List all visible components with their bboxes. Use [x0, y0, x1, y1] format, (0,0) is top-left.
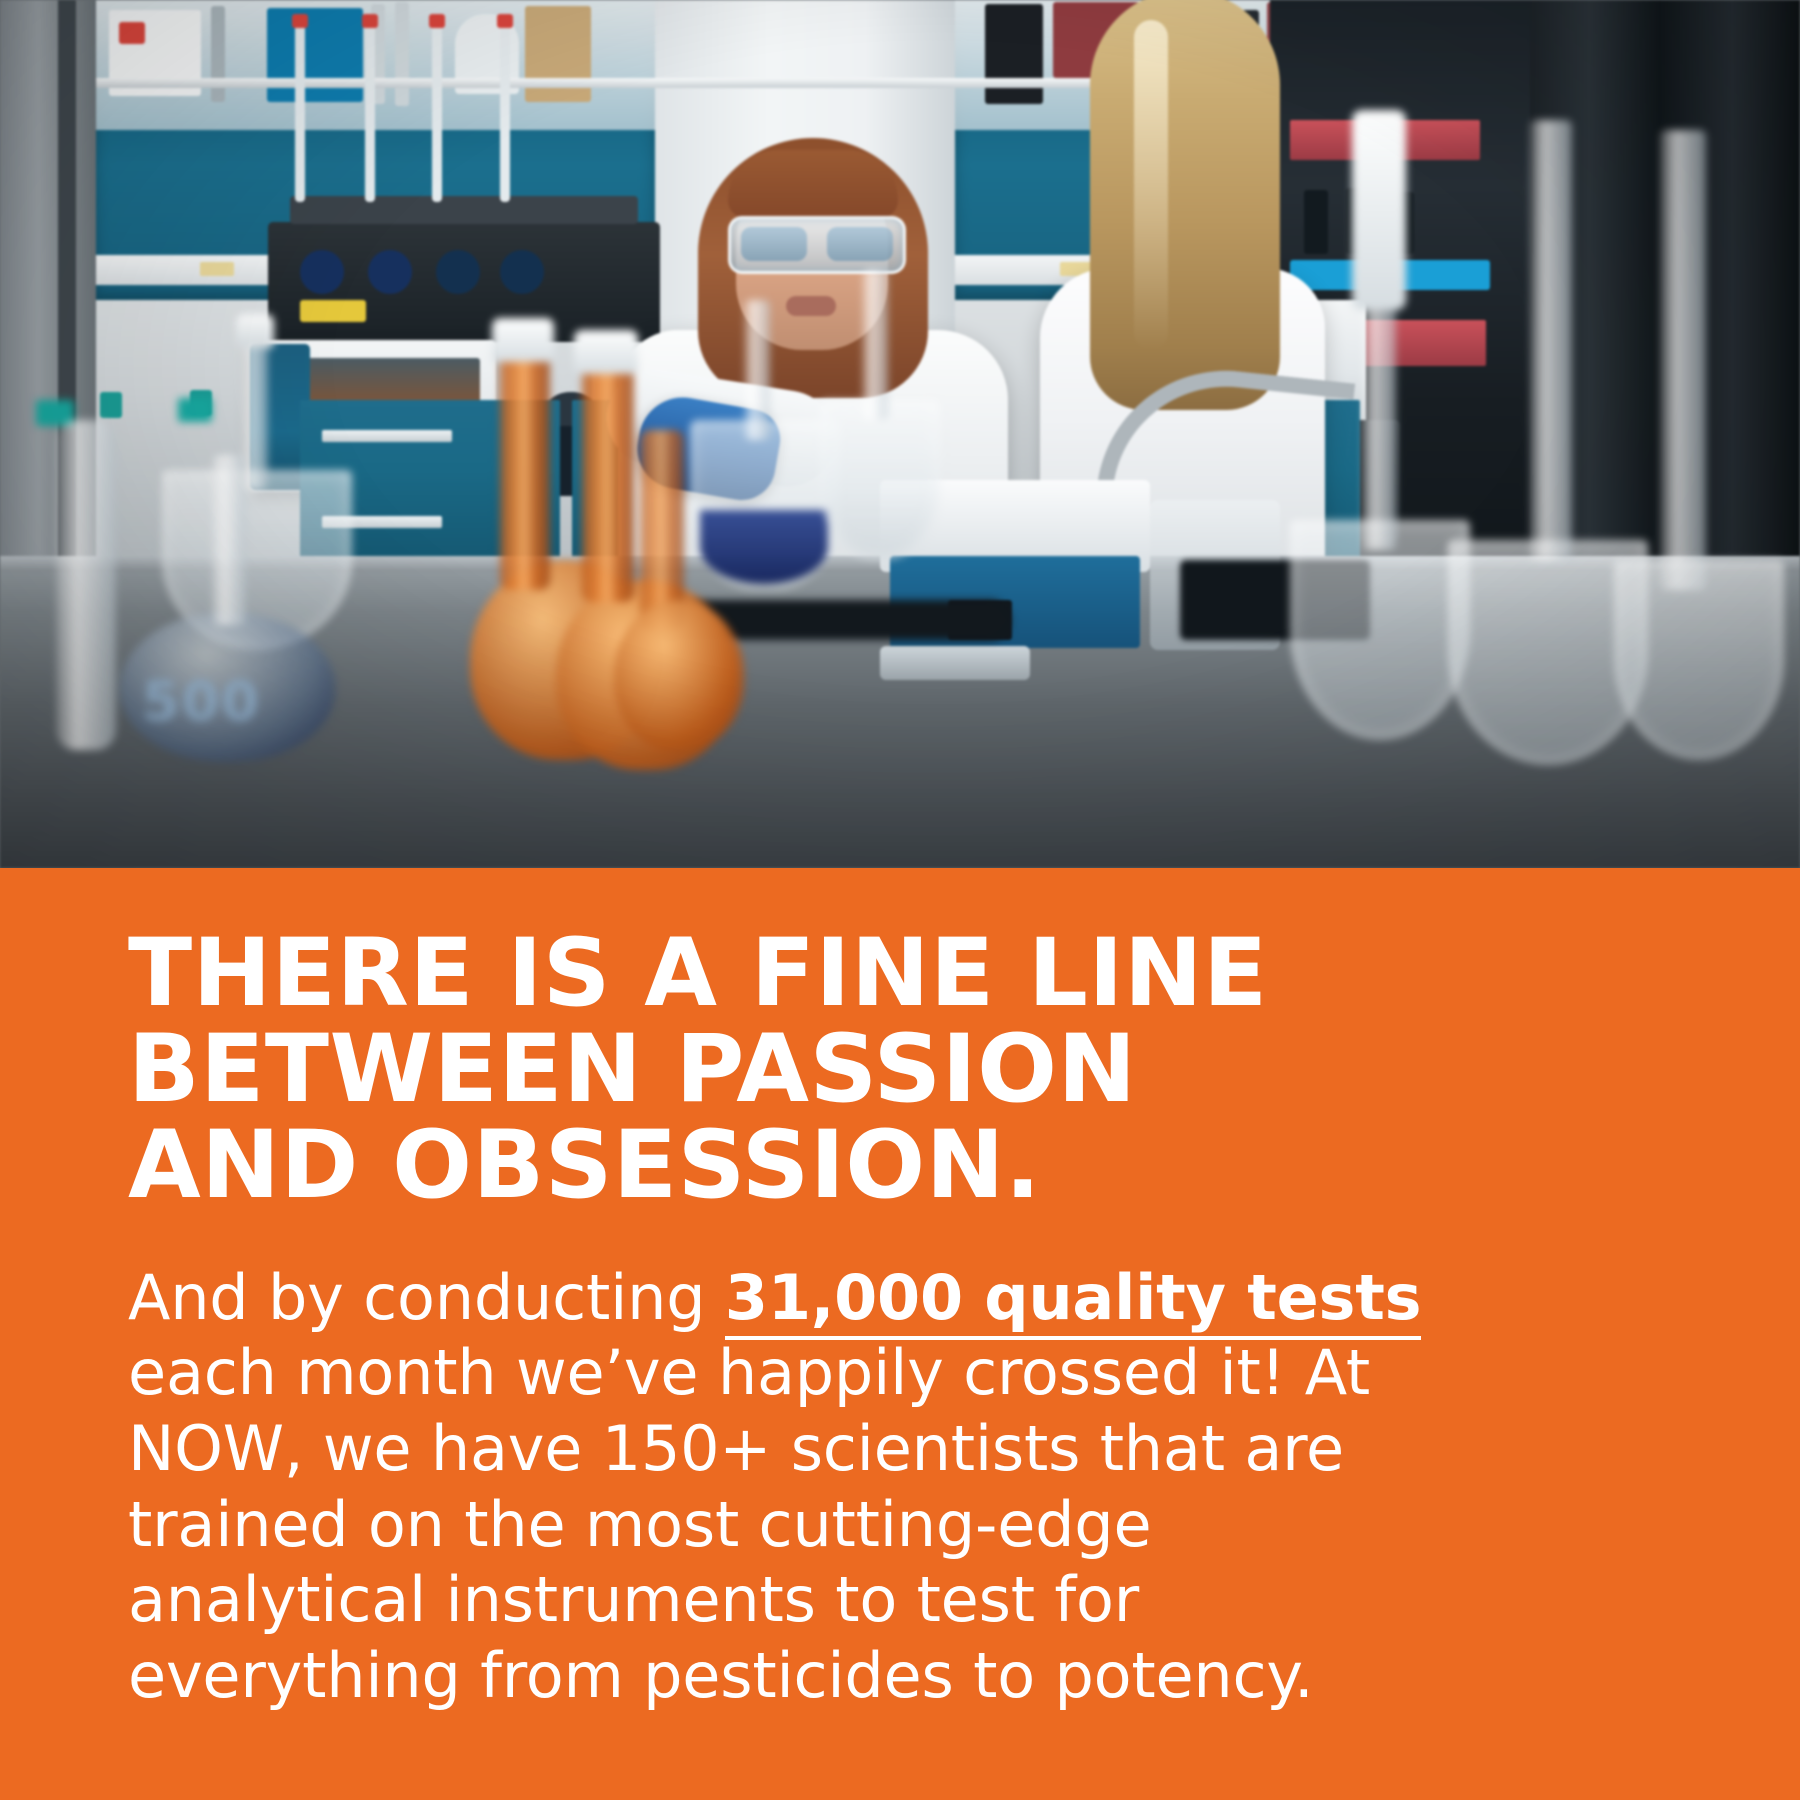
- flask-500-label: 500: [142, 670, 282, 724]
- burette-cap-1: [292, 14, 308, 28]
- burette-cap-2: [362, 14, 378, 28]
- rack-cap-teal-2: [100, 392, 122, 418]
- erlenmeyer-center-2-neck: [862, 270, 888, 420]
- vial-3: [436, 250, 480, 294]
- burette-cap-4: [497, 14, 513, 28]
- body-copy-part-2: each month we’ve happily crossed it! At …: [128, 1336, 1370, 1712]
- vial-1: [300, 250, 344, 294]
- scientist-goggles-fringe: [728, 150, 898, 218]
- scientist-goggles-mouth: [786, 296, 836, 316]
- quality-tests-emphasis: 31,000 quality tests: [725, 1261, 1421, 1340]
- headline: THERE IS A FINE LINE BETWEEN PASSION AND…: [128, 926, 1418, 1214]
- body-copy-part-1: And by conducting: [128, 1261, 725, 1334]
- headline-line-3: AND OBSESSION.: [128, 1118, 1418, 1214]
- amber-flask-bulb-3: [614, 600, 744, 750]
- erlenmeyer-center-2: [820, 400, 940, 560]
- shelf-label-red: [119, 22, 145, 44]
- headline-line-1: THERE IS A FINE LINE: [128, 926, 1418, 1022]
- glass-column-right-1: [1352, 110, 1406, 310]
- erlenmeyer-center-neck: [744, 300, 770, 440]
- shelf-divider-3: [395, 2, 409, 106]
- cabinet-tab-1: [200, 262, 234, 276]
- amber-flask-stopper-1: [492, 318, 554, 362]
- glass-flask-right-1: [1290, 520, 1470, 740]
- flask-500-neck: [212, 455, 246, 625]
- amber-flask-stopper-2: [574, 330, 638, 374]
- body-copy: And by conducting 31,000 quality tests e…: [128, 1260, 1458, 1714]
- burette-rod-3: [432, 22, 442, 202]
- instrument-yellow-label: [300, 300, 366, 322]
- headline-line-2: BETWEEN PASSION: [128, 1022, 1418, 1118]
- teal-cap-left-2: [178, 398, 212, 422]
- glass-flask-left-stopper: [236, 314, 274, 348]
- burette-rod-4: [500, 22, 510, 202]
- scientist-blonde-hair-highlight: [1134, 20, 1168, 350]
- orange-message-panel: THERE IS A FINE LINE BETWEEN PASSION AND…: [0, 868, 1800, 1800]
- autosampler-rail: [290, 196, 638, 224]
- amber-flask-neck-2: [582, 352, 634, 602]
- erlenmeyer-blue-liquid: [700, 510, 828, 584]
- goggle-lens-left: [741, 227, 807, 261]
- glass-cylinder-far-left: [56, 420, 116, 750]
- panel-content: THERE IS A FINE LINE BETWEEN PASSION AND…: [128, 926, 1700, 1713]
- glass-column-right-2: [1530, 120, 1572, 560]
- burette-rod-1: [295, 22, 305, 202]
- lab-scene: 500: [0, 0, 1800, 868]
- lab-quality-ad-card: 500: [0, 0, 1800, 1800]
- scientist-blonde-hair: [1090, 0, 1280, 410]
- safety-goggles-icon: [728, 216, 906, 274]
- goggle-lens-right: [827, 227, 893, 261]
- burette-rod-2: [365, 22, 375, 202]
- vial-2: [368, 250, 412, 294]
- volumetric-flask-500ml: 500: [120, 612, 335, 762]
- glass-column-right-3: [1660, 130, 1706, 590]
- glass-flask-right-1-neck: [1362, 300, 1396, 550]
- amber-flask-neck-1: [500, 340, 550, 590]
- lab-hero-image: 500: [0, 0, 1800, 868]
- vial-4: [500, 250, 544, 294]
- burette-cap-3: [429, 14, 445, 28]
- glass-flask-right-3: [1614, 560, 1784, 760]
- benchtop-balance-pan: [880, 646, 1030, 680]
- base-cabinet-handle-1: [322, 430, 452, 442]
